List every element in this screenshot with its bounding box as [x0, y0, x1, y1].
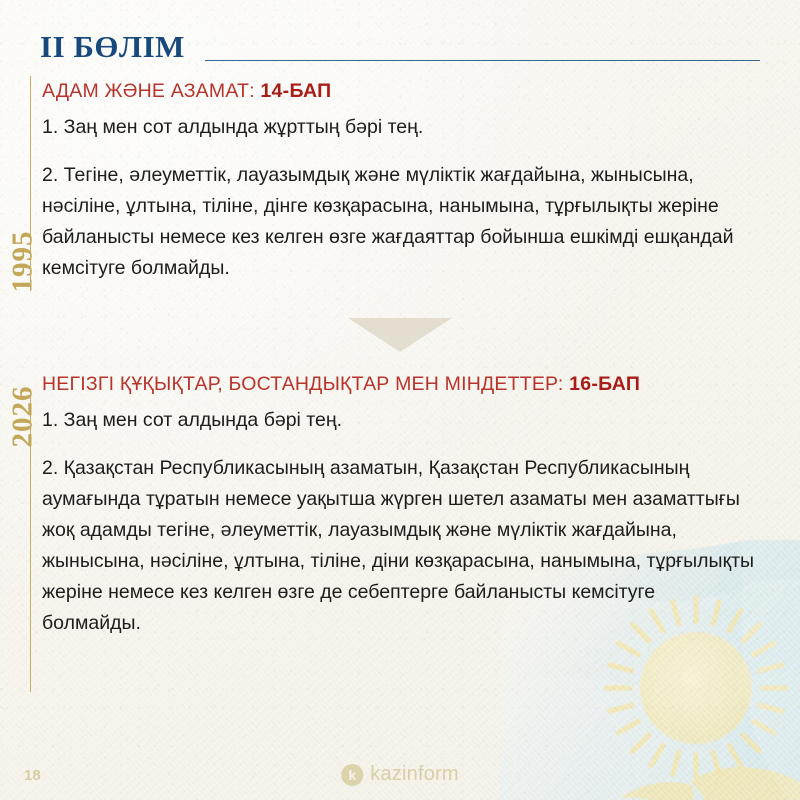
section-2026-heading: НЕГІЗГІ ҚҰҚЫҚТАР, БОСТАНДЫҚТАР МЕН МІНДЕ…	[42, 373, 764, 396]
section-1995-heading: АДАМ ЖӘНЕ АЗАМАТ: 14-БАП	[42, 80, 764, 103]
page-title: II БӨЛІМ	[40, 29, 185, 65]
section-1995-article-label: 14-БАП	[260, 80, 331, 102]
section-1995: АДАМ ЖӘНЕ АЗАМАТ: 14-БАП 1. Заң мен сот …	[42, 80, 764, 284]
infographic-page: 1995 2026 II БӨЛІМ АДАМ ЖӘНЕ АЗАМАТ: 14-…	[0, 0, 800, 800]
timeline-year-1995: 1995	[7, 187, 40, 337]
kazinform-mark-icon: k	[341, 764, 363, 786]
section-1995-clause-2: 2. Тегіне, әлеуметтік, лауазымдық және м…	[42, 160, 757, 284]
section-2026-clause-2: 2. Қазақстан Республикасының азаматын, Қ…	[42, 453, 757, 639]
content-column: II БӨЛІМ АДАМ ЖӘНЕ АЗАМАТ: 14-БАП 1. Заң…	[40, 0, 770, 800]
timeline-year-2026: 2026	[7, 342, 40, 492]
section-1995-clause-1: 1. Заң мен сот алдында жұрттың бәрі тең.	[42, 112, 757, 143]
section-2026: НЕГІЗГІ ҚҰҚЫҚТАР, БОСТАНДЫҚТАР МЕН МІНДЕ…	[42, 373, 764, 639]
brand-name: kazinform	[370, 763, 459, 786]
page-number: 18	[24, 767, 41, 784]
section-1995-heading-text: АДАМ ЖӘНЕ АЗАМАТ:	[42, 80, 260, 102]
section-2026-heading-text: НЕГІЗГІ ҚҰҚЫҚТАР, БОСТАНДЫҚТАР МЕН МІНДЕ…	[42, 373, 569, 395]
brand-logo: k kazinform	[341, 763, 459, 786]
section-2026-article-label: 16-БАП	[569, 373, 640, 395]
section-2026-clause-1: 1. Заң мен сот алдында бәрі тең.	[42, 405, 757, 436]
